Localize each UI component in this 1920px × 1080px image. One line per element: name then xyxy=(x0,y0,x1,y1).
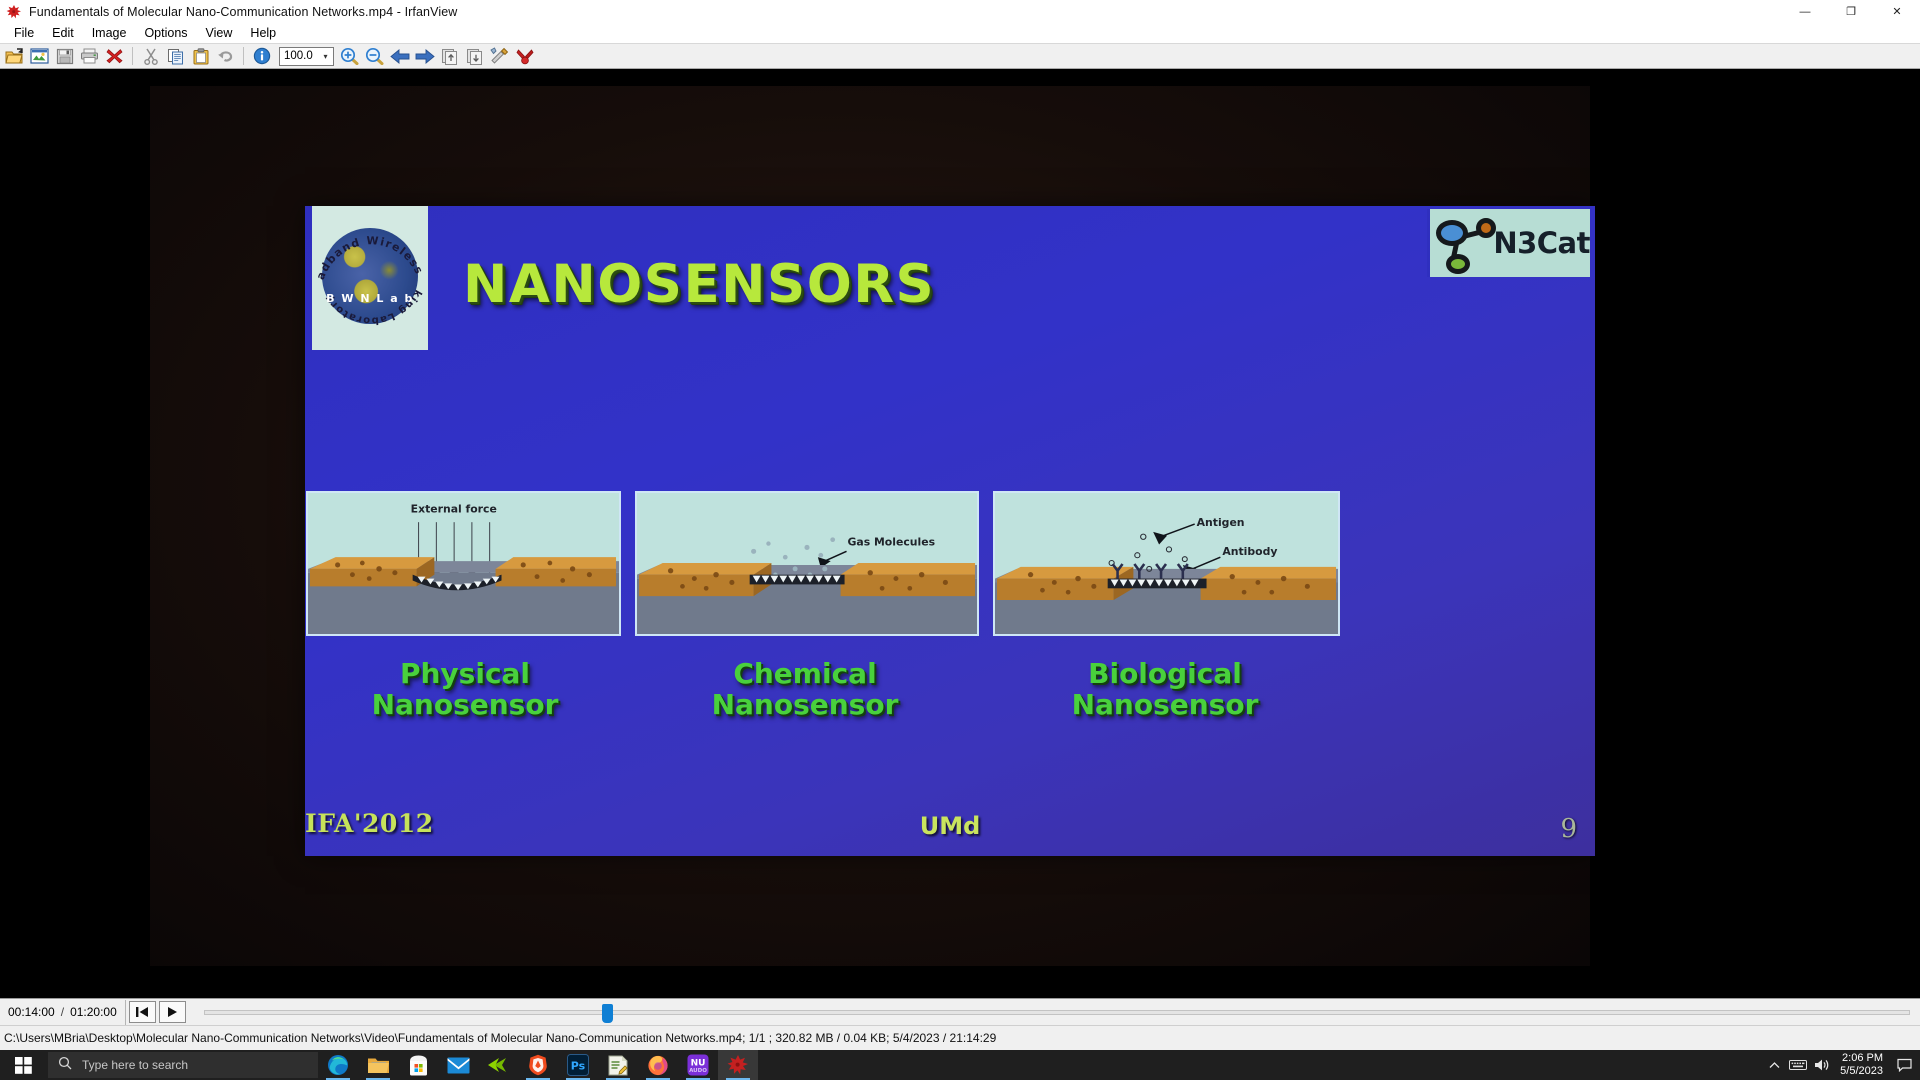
menu-bar: File Edit Image Options View Help xyxy=(0,23,1920,43)
current-time: 00:14:00 xyxy=(8,1005,55,1019)
zoom-level-value: 100.0 xyxy=(280,50,318,62)
thumbnails-icon[interactable] xyxy=(27,44,52,68)
print-icon[interactable] xyxy=(77,44,102,68)
search-input[interactable]: Type here to search xyxy=(48,1052,318,1078)
toolbar-separator-2 xyxy=(243,47,244,65)
caption-chemical-line1: Chemical xyxy=(650,658,960,689)
copy-icon[interactable] xyxy=(163,44,188,68)
projected-screen-frame: adband Wireless king Laboratory B W N L … xyxy=(150,86,1590,966)
svg-text:adband Wireless: adband Wireless xyxy=(314,234,426,282)
last-page-icon[interactable] xyxy=(462,44,487,68)
zoom-in-icon[interactable] xyxy=(337,44,362,68)
menu-view[interactable]: View xyxy=(197,24,242,42)
nuaudio-label: NU xyxy=(691,1059,706,1069)
play-icon[interactable] xyxy=(159,1001,186,1023)
caption-chemical-line2: Nanosensor xyxy=(650,689,960,720)
time-separator: / xyxy=(61,1005,64,1019)
undo-icon[interactable] xyxy=(213,44,238,68)
caption-biological-line2: Nanosensor xyxy=(1005,689,1325,720)
clock-date: 5/5/2023 xyxy=(1840,1065,1883,1078)
status-bar: C:\Users\MBria\Desktop\Molecular Nano-Co… xyxy=(0,1025,1920,1050)
taskbar-photoshop[interactable]: Ps xyxy=(558,1050,598,1080)
n3cat-logo: N3Cat xyxy=(1427,209,1590,277)
minimize-button[interactable]: — xyxy=(1782,0,1828,23)
status-text: C:\Users\MBria\Desktop\Molecular Nano-Co… xyxy=(4,1031,996,1045)
slide-footer-organization: UMd xyxy=(305,812,1595,840)
chevron-down-icon[interactable]: ▾ xyxy=(318,52,333,61)
video-display-area[interactable]: adband Wireless king Laboratory B W N L … xyxy=(0,69,1920,998)
right-electrode xyxy=(841,563,975,596)
zoom-level-combobox[interactable]: 100.0 ▾ xyxy=(279,47,334,66)
previous-icon[interactable] xyxy=(387,44,412,68)
caption-biological-nanosensor: Biological Nanosensor xyxy=(1005,658,1325,721)
info-icon[interactable] xyxy=(249,44,274,68)
taskbar: Type here to search xyxy=(0,1050,1920,1080)
chevron-up-icon[interactable] xyxy=(1762,1050,1786,1080)
menu-edit[interactable]: Edit xyxy=(43,24,83,42)
taskbar-notepadpp[interactable] xyxy=(598,1050,638,1080)
system-tray: 2:06 PM 5/5/2023 xyxy=(1762,1050,1920,1080)
caption-chemical-nanosensor: Chemical Nanosensor xyxy=(650,658,960,721)
plugin-icon[interactable] xyxy=(512,44,537,68)
keyboard-icon[interactable] xyxy=(1786,1050,1810,1080)
nuaudio-sublabel: AUDO xyxy=(689,1068,707,1074)
left-electrode xyxy=(310,557,434,586)
windows-start-icon[interactable] xyxy=(0,1050,46,1080)
toolbar: 100.0 ▾ xyxy=(0,43,1920,69)
photoshop-label: Ps xyxy=(571,1060,586,1073)
caption-physical-nanosensor: Physical Nanosensor xyxy=(325,658,605,721)
total-time: 01:20:00 xyxy=(70,1005,117,1019)
menu-options[interactable]: Options xyxy=(135,24,196,42)
antibody-label: Antibody xyxy=(1222,545,1277,558)
clock[interactable]: 2:06 PM 5/5/2023 xyxy=(1834,1050,1892,1080)
n3cat-node-graph-icon xyxy=(1430,210,1493,276)
taskbar-explorer[interactable] xyxy=(358,1050,398,1080)
right-electrode xyxy=(1201,567,1336,600)
volume-icon[interactable] xyxy=(1810,1050,1834,1080)
biological-nanosensor-diagram: Antigen Antibody xyxy=(993,491,1340,636)
menu-help[interactable]: Help xyxy=(241,24,285,42)
bwn-arc-top-text: adband Wireless xyxy=(314,234,426,282)
delete-icon[interactable] xyxy=(102,44,127,68)
gas-molecules-label: Gas Molecules xyxy=(848,536,936,549)
zoom-out-icon[interactable] xyxy=(362,44,387,68)
taskbar-firefox[interactable] xyxy=(638,1050,678,1080)
time-display: 00:14:00 / 01:20:00 xyxy=(0,1000,126,1025)
paste-icon[interactable] xyxy=(188,44,213,68)
irfanview-splat-icon xyxy=(6,4,22,20)
taskbar-brave[interactable] xyxy=(518,1050,558,1080)
toolbar-separator xyxy=(132,47,133,65)
external-force-label: External force xyxy=(411,503,497,516)
seek-slider[interactable] xyxy=(204,1010,1910,1015)
maximize-button[interactable]: ❐ xyxy=(1828,0,1874,23)
next-icon[interactable] xyxy=(412,44,437,68)
taskbar-mail[interactable] xyxy=(438,1050,478,1080)
right-electrode xyxy=(496,557,616,586)
chemical-nanosensor-diagram: Gas Molecules xyxy=(635,491,979,636)
bwn-lab-ring-text: adband Wireless king Laboratory B W N L … xyxy=(312,206,428,350)
caption-physical-line2: Nanosensor xyxy=(325,689,605,720)
bwn-center-text: B W N L a b xyxy=(326,292,414,305)
search-placeholder: Type here to search xyxy=(82,1058,188,1072)
save-icon[interactable] xyxy=(52,44,77,68)
clock-time: 2:06 PM xyxy=(1842,1052,1883,1065)
notification-icon[interactable] xyxy=(1892,1050,1916,1080)
taskbar-edge[interactable] xyxy=(318,1050,358,1080)
taskbar-nuaudio[interactable]: NU AUDO xyxy=(678,1050,718,1080)
menu-file[interactable]: File xyxy=(5,24,43,42)
search-icon xyxy=(58,1056,72,1075)
caption-physical-line1: Physical xyxy=(325,658,605,689)
n3cat-label: N3Cat xyxy=(1493,226,1590,260)
slide-title: NANOSENSORS xyxy=(463,254,935,315)
close-button[interactable]: ✕ xyxy=(1874,0,1920,23)
window-title: Fundamentals of Molecular Nano-Communica… xyxy=(29,5,457,19)
taskbar-irfanview[interactable] xyxy=(718,1050,758,1080)
antigen-label: Antigen xyxy=(1197,516,1245,529)
open-icon[interactable] xyxy=(2,44,27,68)
physical-nanosensor-diagram: External force xyxy=(306,491,621,636)
bwn-lab-logo: adband Wireless king Laboratory B W N L … xyxy=(312,206,428,350)
settings-icon[interactable] xyxy=(487,44,512,68)
seek-thumb[interactable] xyxy=(602,1004,613,1023)
caption-biological-line1: Biological xyxy=(1005,658,1325,689)
first-page-icon[interactable] xyxy=(437,44,462,68)
slide-page-number: 9 xyxy=(1560,814,1577,844)
skip-back-icon[interactable] xyxy=(129,1001,156,1023)
presentation-slide: adband Wireless king Laboratory B W N L … xyxy=(305,206,1595,856)
video-player-bar: 00:14:00 / 01:20:00 xyxy=(0,998,1920,1025)
taskbar-store[interactable] xyxy=(398,1050,438,1080)
window-controls: — ❐ ✕ xyxy=(1782,0,1920,23)
title-bar: Fundamentals of Molecular Nano-Communica… xyxy=(0,0,1920,23)
menu-image[interactable]: Image xyxy=(83,24,136,42)
cut-icon[interactable] xyxy=(138,44,163,68)
taskbar-nvidia[interactable] xyxy=(478,1050,518,1080)
